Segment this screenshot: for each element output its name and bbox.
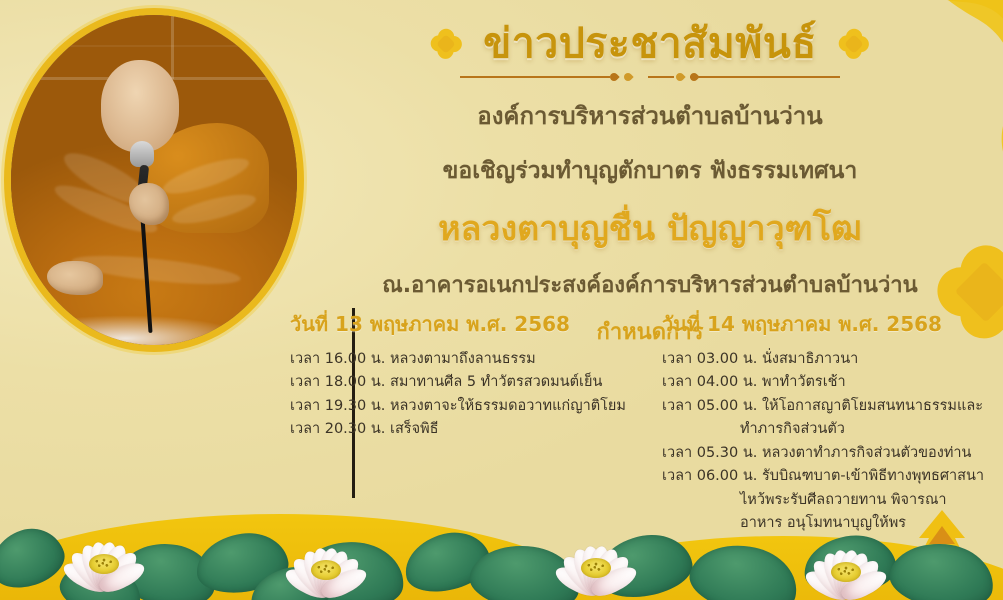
schedule-item: เวลา 16.00 น. หลวงตามาถึงลานธรรม [290, 348, 632, 371]
header-block: ข่าวประชาสัมพันธ์ องค์การบริหารส่วนตำบลบ… [300, 22, 1000, 349]
monk-photo-frame [4, 8, 304, 352]
monk-photo [11, 15, 297, 345]
schedule-heading-day2: วันที่ 14 พฤษภาคม พ.ศ. 2568 [662, 308, 1003, 340]
lotus-decoration-band [0, 480, 1003, 600]
schedule-item-continuation: ทำภารกิจส่วนตัว [662, 418, 1003, 441]
lotus-flower [540, 514, 652, 600]
page-title: ข่าวประชาสัมพันธ์ [483, 22, 817, 65]
schedule-item: เวลา 05.30 น. หลวงตาทำภารกิจส่วนตัวของท่… [662, 442, 1003, 465]
schedule-item: เวลา 20.30 น. เสร็จพิธี [290, 418, 632, 441]
schedule-item: เวลา 19.30 น. หลวงตาจะให้ธรรมดอวาทแก่ญาต… [290, 395, 632, 418]
schedule-item: เวลา 04.00 น. พาทำวัตรเช้า [662, 371, 1003, 394]
schedule-item: เวลา 18.00 น. สมาทานศีล 5 ทำวัตรสวดมนต์เ… [290, 371, 632, 394]
schedule-item: เวลา 05.00 น. ให้โอกาสญาติโยมสนทนาธรรมแล… [662, 395, 1003, 418]
title-divider [460, 70, 840, 84]
schedule-heading-day1: วันที่ 13 พฤษภาคม พ.ศ. 2568 [290, 308, 632, 340]
title-row: ข่าวประชาสัมพันธ์ [300, 22, 1000, 65]
lotus-flower [790, 518, 902, 600]
lotus-flower [48, 510, 160, 596]
schedule-item: เวลา 03.00 น. นั่งสมาธิภาวนา [662, 348, 1003, 371]
announcement-poster: ข่าวประชาสัมพันธ์ องค์การบริหารส่วนตำบลบ… [0, 0, 1003, 600]
organization-line: องค์การบริหารส่วนตำบลบ้านว่าน [300, 96, 1000, 135]
monk-name: หลวงตาบุญชื่น ปัญญาวุฑโฒ [300, 201, 1000, 255]
venue-line: ณ.อาคารอเนกประสงค์องค์การบริหารส่วนตำบลบ… [300, 267, 1000, 302]
schedule-list-day1: เวลา 16.00 น. หลวงตามาถึงลานธรรม เวลา 18… [290, 348, 632, 442]
title-left-quatrefoil-icon [431, 29, 461, 59]
lotus-flower [270, 516, 382, 600]
invitation-line: ขอเชิญร่วมทำบุญตักบาตร ฟังธรรมเทศนา [300, 153, 1000, 189]
title-right-quatrefoil-icon [839, 29, 869, 59]
